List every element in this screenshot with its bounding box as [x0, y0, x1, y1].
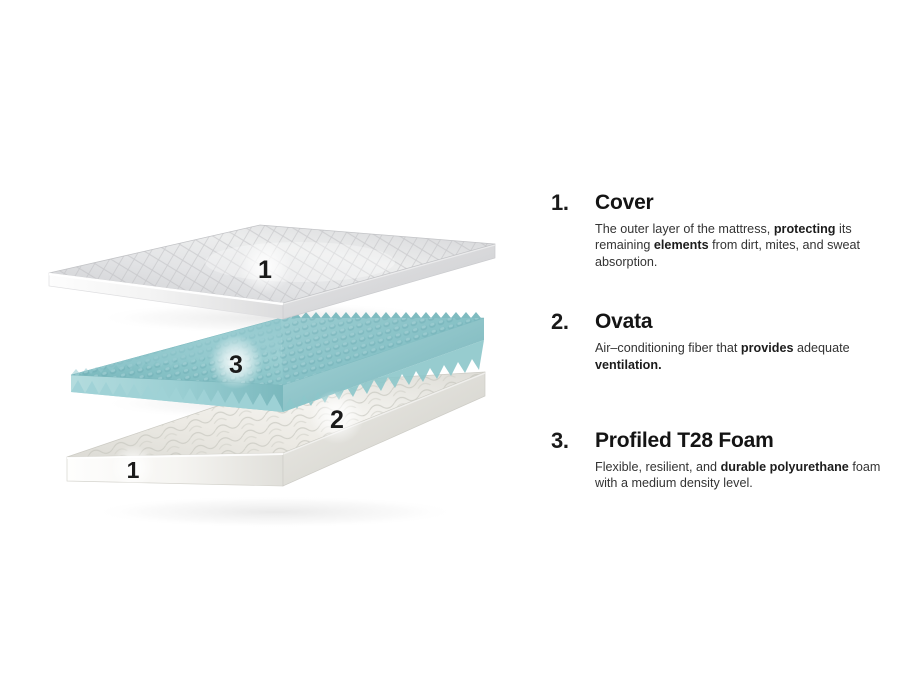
legend-title-cover: Cover: [595, 190, 881, 216]
marker-label: 3: [229, 351, 243, 379]
legend-item-profiled-foam: 3. Profiled T28 Foam Flexible, resilient…: [551, 428, 881, 492]
marker-label: 2: [330, 406, 344, 434]
legend-number-3: 3.: [551, 428, 595, 454]
diagram-marker-1-cover: 1: [238, 240, 292, 294]
legend-item-ovata: 2. Ovata Air–conditioning fiber that pro…: [551, 309, 881, 373]
mattress-layers-diagram: 1 3 2 1: [0, 0, 520, 675]
legend-title-ovata: Ovata: [595, 309, 881, 335]
legend-number-2: 2.: [551, 309, 595, 335]
marker-label: 1: [127, 457, 140, 483]
legend-item-cover: 1. Cover The outer layer of the mattress…: [551, 190, 881, 270]
diagram-marker-1-ovata-edge: 1: [111, 445, 155, 489]
legend-number-1: 1.: [551, 190, 595, 216]
legend-desc-ovata: Air–conditioning fiber that provides ade…: [595, 340, 881, 373]
diagram-marker-2-ovata: 2: [310, 390, 364, 444]
marker-label: 1: [258, 256, 272, 284]
legend-title-profiled-foam: Profiled T28 Foam: [595, 428, 881, 454]
shadow-under-ovata: [90, 496, 460, 528]
layer-legend: 1. Cover The outer layer of the mattress…: [551, 190, 881, 492]
diagram-marker-3-foam: 3: [209, 335, 263, 389]
infographic-page: 1 3 2 1 1. Cover The outer layer: [0, 0, 900, 675]
legend-desc-profiled-foam: Flexible, resilient, and durable polyure…: [595, 459, 881, 492]
legend-desc-cover: The outer layer of the mattress, protect…: [595, 221, 881, 270]
